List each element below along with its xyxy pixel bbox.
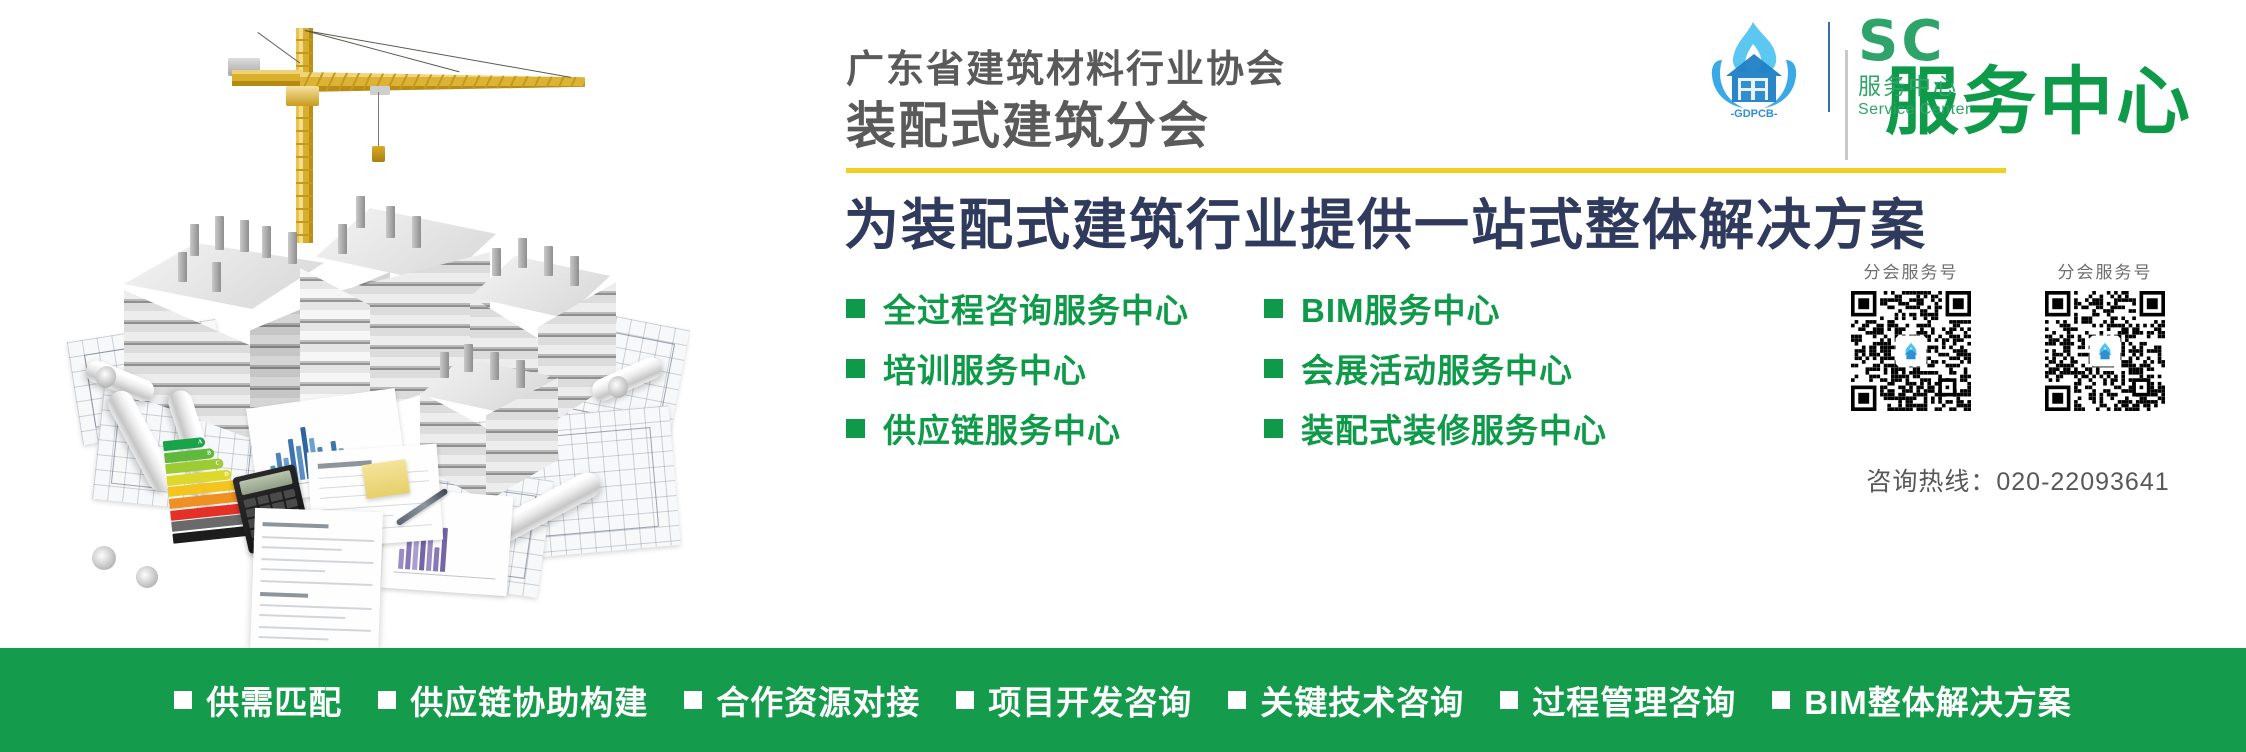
rebar-column <box>412 216 421 248</box>
service-item-label: 培训服务中心 <box>883 344 1087 392</box>
crane-hook <box>372 146 385 162</box>
square-bullet-icon <box>1500 691 1518 709</box>
gdpcb-wordmark: -GDPCB- <box>1730 108 1777 120</box>
gdpcb-logo: -GDPCB- <box>1700 16 1808 120</box>
rebar-column <box>212 262 221 292</box>
rebar-column <box>516 360 525 388</box>
crane-operator-cab <box>286 86 319 106</box>
rebar-column <box>518 238 527 268</box>
rolled-blueprint-cap <box>92 546 116 570</box>
rebar-column <box>386 206 395 238</box>
square-bullet-icon <box>378 691 396 709</box>
qr-caption: 分会服务号 <box>1826 258 1996 283</box>
qr-code-area: 分会服务号 分会服务号 <box>1808 258 2228 458</box>
footer-item-label: 供应链协助构建 <box>410 676 648 724</box>
crane-counterjib <box>232 70 302 86</box>
rebar-column <box>356 196 365 228</box>
footer-item-label: 项目开发咨询 <box>988 676 1192 724</box>
rebar-column <box>490 352 499 380</box>
association-service-center-banner: A B C D E F G H I <box>0 0 2246 752</box>
service-list-right-column: BIM服务中心 会展活动服务中心 装配式装修服务中心 <box>1264 278 1694 458</box>
square-bullet-icon <box>174 691 192 709</box>
footer-item-label: 过程管理咨询 <box>1532 676 1736 724</box>
hotline-text: 咨询热线：020-22093641 <box>1808 462 2228 498</box>
crane-tie-rear <box>257 32 300 63</box>
qr-center-logo <box>1897 337 1925 365</box>
service-item-prefab-decoration[interactable]: 装配式装修服务中心 <box>1264 398 1694 458</box>
qr-block-2: 分会服务号 <box>2020 258 2190 411</box>
rebar-column <box>492 248 501 276</box>
square-bullet-icon <box>846 359 865 378</box>
square-bullet-icon <box>956 691 974 709</box>
rebar-column <box>338 224 347 254</box>
qr-house-icon <box>2094 340 2116 362</box>
logo-divider <box>1828 22 1830 112</box>
footer-item-process-management[interactable]: 过程管理咨询 <box>1500 676 1736 724</box>
rebar-column <box>464 344 473 372</box>
service-item-exhibition[interactable]: 会展活动服务中心 <box>1264 338 1694 398</box>
service-item-label: BIM服务中心 <box>1301 284 1501 332</box>
qr-house-icon <box>1900 340 1922 362</box>
application-form-document <box>249 508 383 648</box>
footer-item-label: 供需匹配 <box>206 676 342 724</box>
square-bullet-icon <box>1228 691 1246 709</box>
footer-item-supply-demand-matching[interactable]: 供需匹配 <box>174 676 342 724</box>
sc-monogram: SC <box>1858 14 2048 70</box>
square-bullet-icon <box>1264 299 1283 318</box>
logo-row: -GDPCB- SC 服务中心 Service Center <box>1700 12 2245 122</box>
square-bullet-icon <box>684 691 702 709</box>
footer-item-project-development[interactable]: 项目开发咨询 <box>956 676 1192 724</box>
footer-item-label: 合作资源对接 <box>716 676 920 724</box>
qr-caption: 分会服务号 <box>2020 258 2190 283</box>
yellow-horizontal-rule <box>846 168 2006 173</box>
gdpcb-house-flame-icon: -GDPCB- <box>1700 16 1808 120</box>
rebar-column <box>440 352 449 378</box>
footer-item-bim-solution[interactable]: BIM整体解决方案 <box>1772 676 2072 724</box>
service-list-left-column: 全过程咨询服务中心 培训服务中心 供应链服务中心 <box>846 278 1276 458</box>
rebar-column <box>288 232 297 264</box>
rebar-column <box>178 252 187 282</box>
rolled-blueprint-cap <box>608 376 628 398</box>
rebar-column <box>544 246 553 276</box>
rebar-column <box>190 224 199 256</box>
banner-content: 广东省建筑材料行业协会 装配式建筑分会 服务中心 为装配式建筑行业提供一站式整体… <box>690 0 2246 648</box>
footer-item-label: 关键技术咨询 <box>1260 676 1464 724</box>
rebar-column <box>215 216 224 250</box>
service-item-training[interactable]: 培训服务中心 <box>846 338 1276 398</box>
service-item-label: 装配式装修服务中心 <box>1301 404 1607 452</box>
square-bullet-icon <box>846 299 865 318</box>
rebar-column <box>262 226 271 258</box>
crane-mast <box>296 28 313 243</box>
rebar-column <box>570 256 579 286</box>
main-headline: 为装配式建筑行业提供一站式整体解决方案 <box>844 190 1927 260</box>
square-bullet-icon <box>1264 419 1283 438</box>
footer-services-bar: 供需匹配 供应链协助构建 合作资源对接 项目开发咨询 关键技术咨询 过程管理咨询 <box>0 648 2246 752</box>
sc-logo-english-label: Service Center <box>1858 100 2048 120</box>
service-item-label: 供应链服务中心 <box>883 404 1121 452</box>
service-item-supply-chain[interactable]: 供应链服务中心 <box>846 398 1276 458</box>
crane-trolley <box>370 86 390 95</box>
square-bullet-icon <box>846 419 865 438</box>
crane-tie-front-1 <box>305 30 460 72</box>
sc-logo-chinese-label: 服务中心 <box>1858 72 2048 100</box>
qr-code-image-1[interactable] <box>1851 291 1971 411</box>
rolled-blueprint-cap <box>136 566 158 588</box>
qr-center-logo <box>2091 337 2119 365</box>
rebar-column <box>240 220 249 252</box>
sticky-note <box>362 459 410 499</box>
construction-hero-image: A B C D E F G H I <box>0 0 690 648</box>
crane-jib <box>300 72 585 92</box>
crane-tie-front-2 <box>305 30 571 78</box>
footer-item-resource-matching[interactable]: 合作资源对接 <box>684 676 920 724</box>
footer-item-key-technology[interactable]: 关键技术咨询 <box>1228 676 1464 724</box>
service-item-label: 全过程咨询服务中心 <box>883 284 1189 332</box>
service-item-label: 会展活动服务中心 <box>1301 344 1573 392</box>
service-item-consulting[interactable]: 全过程咨询服务中心 <box>846 278 1276 338</box>
sc-service-center-logo: SC 服务中心 Service Center <box>1858 14 2048 120</box>
service-item-bim[interactable]: BIM服务中心 <box>1264 278 1694 338</box>
square-bullet-icon <box>1264 359 1283 378</box>
qr-block-1: 分会服务号 <box>1826 258 1996 411</box>
footer-item-label: BIM整体解决方案 <box>1804 676 2072 724</box>
footer-item-supply-chain-build[interactable]: 供应链协助构建 <box>378 676 648 724</box>
crane-hook-cable <box>378 92 379 148</box>
square-bullet-icon <box>1772 691 1790 709</box>
qr-code-image-2[interactable] <box>2045 291 2165 411</box>
footer-items: 供需匹配 供应链协助构建 合作资源对接 项目开发咨询 关键技术咨询 过程管理咨询 <box>174 676 2072 724</box>
